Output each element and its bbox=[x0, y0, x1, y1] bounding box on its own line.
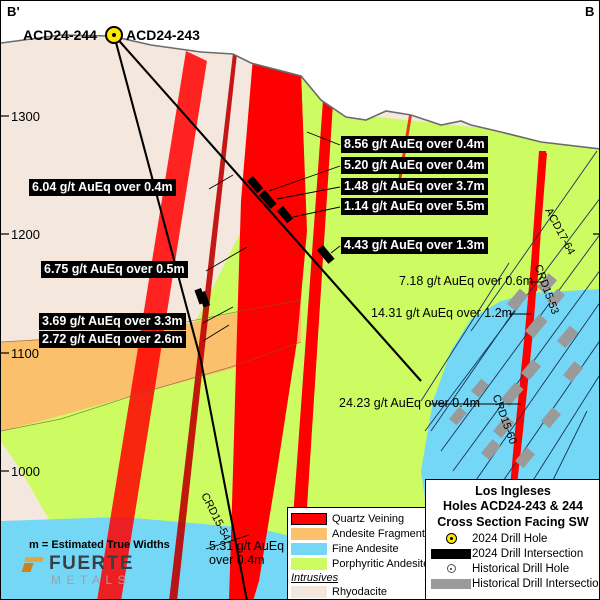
legend-row-intersection-2024: 2024 Drill Intersection bbox=[430, 548, 596, 560]
legend-title-line1: Los Ingleses bbox=[430, 484, 596, 499]
legend-title-line3: Cross Section Facing SW bbox=[430, 515, 596, 530]
rock-legend-row-andesite-fragmented: Andesite Fragmented bbox=[291, 526, 428, 541]
map-title-legend: Los Ingleses Holes ACD24-243 & 244 Cross… bbox=[425, 479, 600, 600]
swatch-andesite-fragmented bbox=[291, 528, 327, 540]
assay-callout-12: 24.23 g/t AuEq over 0.4m bbox=[339, 396, 480, 410]
drill-hole-historical-icon bbox=[430, 564, 472, 573]
legend-label-drill-hole-2024: 2024 Drill Hole bbox=[472, 533, 547, 545]
assay-callout-10: 7.18 g/t AuEq over 0.6m bbox=[399, 274, 533, 288]
logo-primary-text: FUERTE bbox=[49, 553, 134, 575]
section-end-label-right: B bbox=[585, 4, 595, 19]
rock-legend-label-andesite-fragmented: Andesite Fragmented bbox=[332, 528, 437, 540]
rock-legend-label-quartz: Quartz Veining bbox=[332, 513, 404, 525]
assay-callout-1: 6.04 g/t AuEq over 0.4m bbox=[29, 179, 176, 196]
collar-marker-2024[interactable] bbox=[106, 27, 122, 43]
elevation-label-1100: 1100 bbox=[11, 346, 39, 361]
swatch-porphyritic-andesite bbox=[291, 558, 327, 570]
intersection-2024-icon bbox=[430, 549, 472, 559]
legend-label-intersection-2024: 2024 Drill Intersection bbox=[472, 548, 583, 560]
fuerte-metals-logo: FUERTE METALS bbox=[23, 553, 134, 587]
rock-legend-label-fine-andesite: Fine Andesite bbox=[332, 543, 399, 555]
assay-callout-13-line2: over 0.4m bbox=[209, 553, 284, 567]
assay-callout-8: 1.14 g/t AuEq over 5.5m bbox=[341, 198, 488, 215]
drill-hole-2024-icon bbox=[430, 533, 472, 544]
legend-label-drill-hole-historical: Historical Drill Hole bbox=[472, 563, 569, 575]
assay-callout-4: 2.72 g/t AuEq over 2.6m bbox=[39, 331, 186, 348]
assay-callout-3: 3.69 g/t AuEq over 3.3m bbox=[39, 313, 186, 330]
collar-label-acd24-244: ACD24-244 bbox=[23, 27, 97, 43]
rock-legend-row-porphyritic-andesite: Porphyritic Andesite bbox=[291, 556, 428, 571]
legend-row-intersection-historical: Historical Drill Intersection bbox=[430, 578, 596, 590]
true-width-note: m = Estimated True Widths bbox=[29, 539, 170, 551]
assay-callout-6: 5.20 g/t AuEq over 0.4m bbox=[341, 157, 488, 174]
rock-legend-label-rhyodacite: Rhyodacite bbox=[332, 586, 387, 598]
rock-legend-row-rhyodacite: Rhyodacite bbox=[291, 584, 428, 599]
assay-callout-5: 8.56 g/t AuEq over 0.4m bbox=[341, 136, 488, 153]
legend-row-drill-hole-historical: Historical Drill Hole bbox=[430, 563, 596, 575]
swatch-quartz-veining bbox=[291, 513, 327, 525]
logo-secondary-text: METALS bbox=[51, 573, 134, 587]
swatch-fine-andesite bbox=[291, 543, 327, 555]
rock-legend-row-fine-andesite: Fine Andesite bbox=[291, 541, 428, 556]
assay-callout-9: 4.43 g/t AuEq over 1.3m bbox=[341, 237, 488, 254]
swatch-rhyodacite bbox=[291, 586, 327, 598]
elevation-label-1300: 1300 bbox=[11, 109, 40, 124]
elevation-label-1000: 1000 bbox=[11, 464, 40, 479]
rock-legend-label-porphyritic-andesite: Porphyritic Andesite bbox=[332, 558, 429, 570]
assay-callout-11: 14.31 g/t AuEq over 1.2m bbox=[371, 306, 512, 320]
cross-section-figure: B' B 1300 1200 1100 1000 ACD24-244 ACD24… bbox=[0, 0, 600, 600]
legend-title-line2: Holes ACD24-243 & 244 bbox=[430, 499, 596, 514]
assay-callout-7: 1.48 g/t AuEq over 3.7m bbox=[341, 178, 488, 195]
legend-row-drill-hole-2024: 2024 Drill Hole bbox=[430, 533, 596, 545]
rock-type-legend: Quartz Veining Andesite Fragmented Fine … bbox=[287, 507, 432, 600]
elevation-label-1200: 1200 bbox=[11, 227, 40, 242]
collar-label-acd24-243: ACD24-243 bbox=[126, 27, 200, 43]
rock-legend-subheader: Intrusives bbox=[291, 572, 428, 584]
assay-callout-13: 5.31 g/t AuEq over 0.4m bbox=[209, 539, 284, 568]
fuerte-f-icon bbox=[23, 555, 45, 573]
section-end-label-left: B' bbox=[7, 4, 20, 19]
intersection-historical-icon bbox=[430, 579, 472, 589]
assay-callout-2: 6.75 g/t AuEq over 0.5m bbox=[41, 261, 188, 278]
rock-legend-row-quartz: Quartz Veining bbox=[291, 511, 428, 526]
legend-label-intersection-historical: Historical Drill Intersection bbox=[472, 578, 600, 590]
